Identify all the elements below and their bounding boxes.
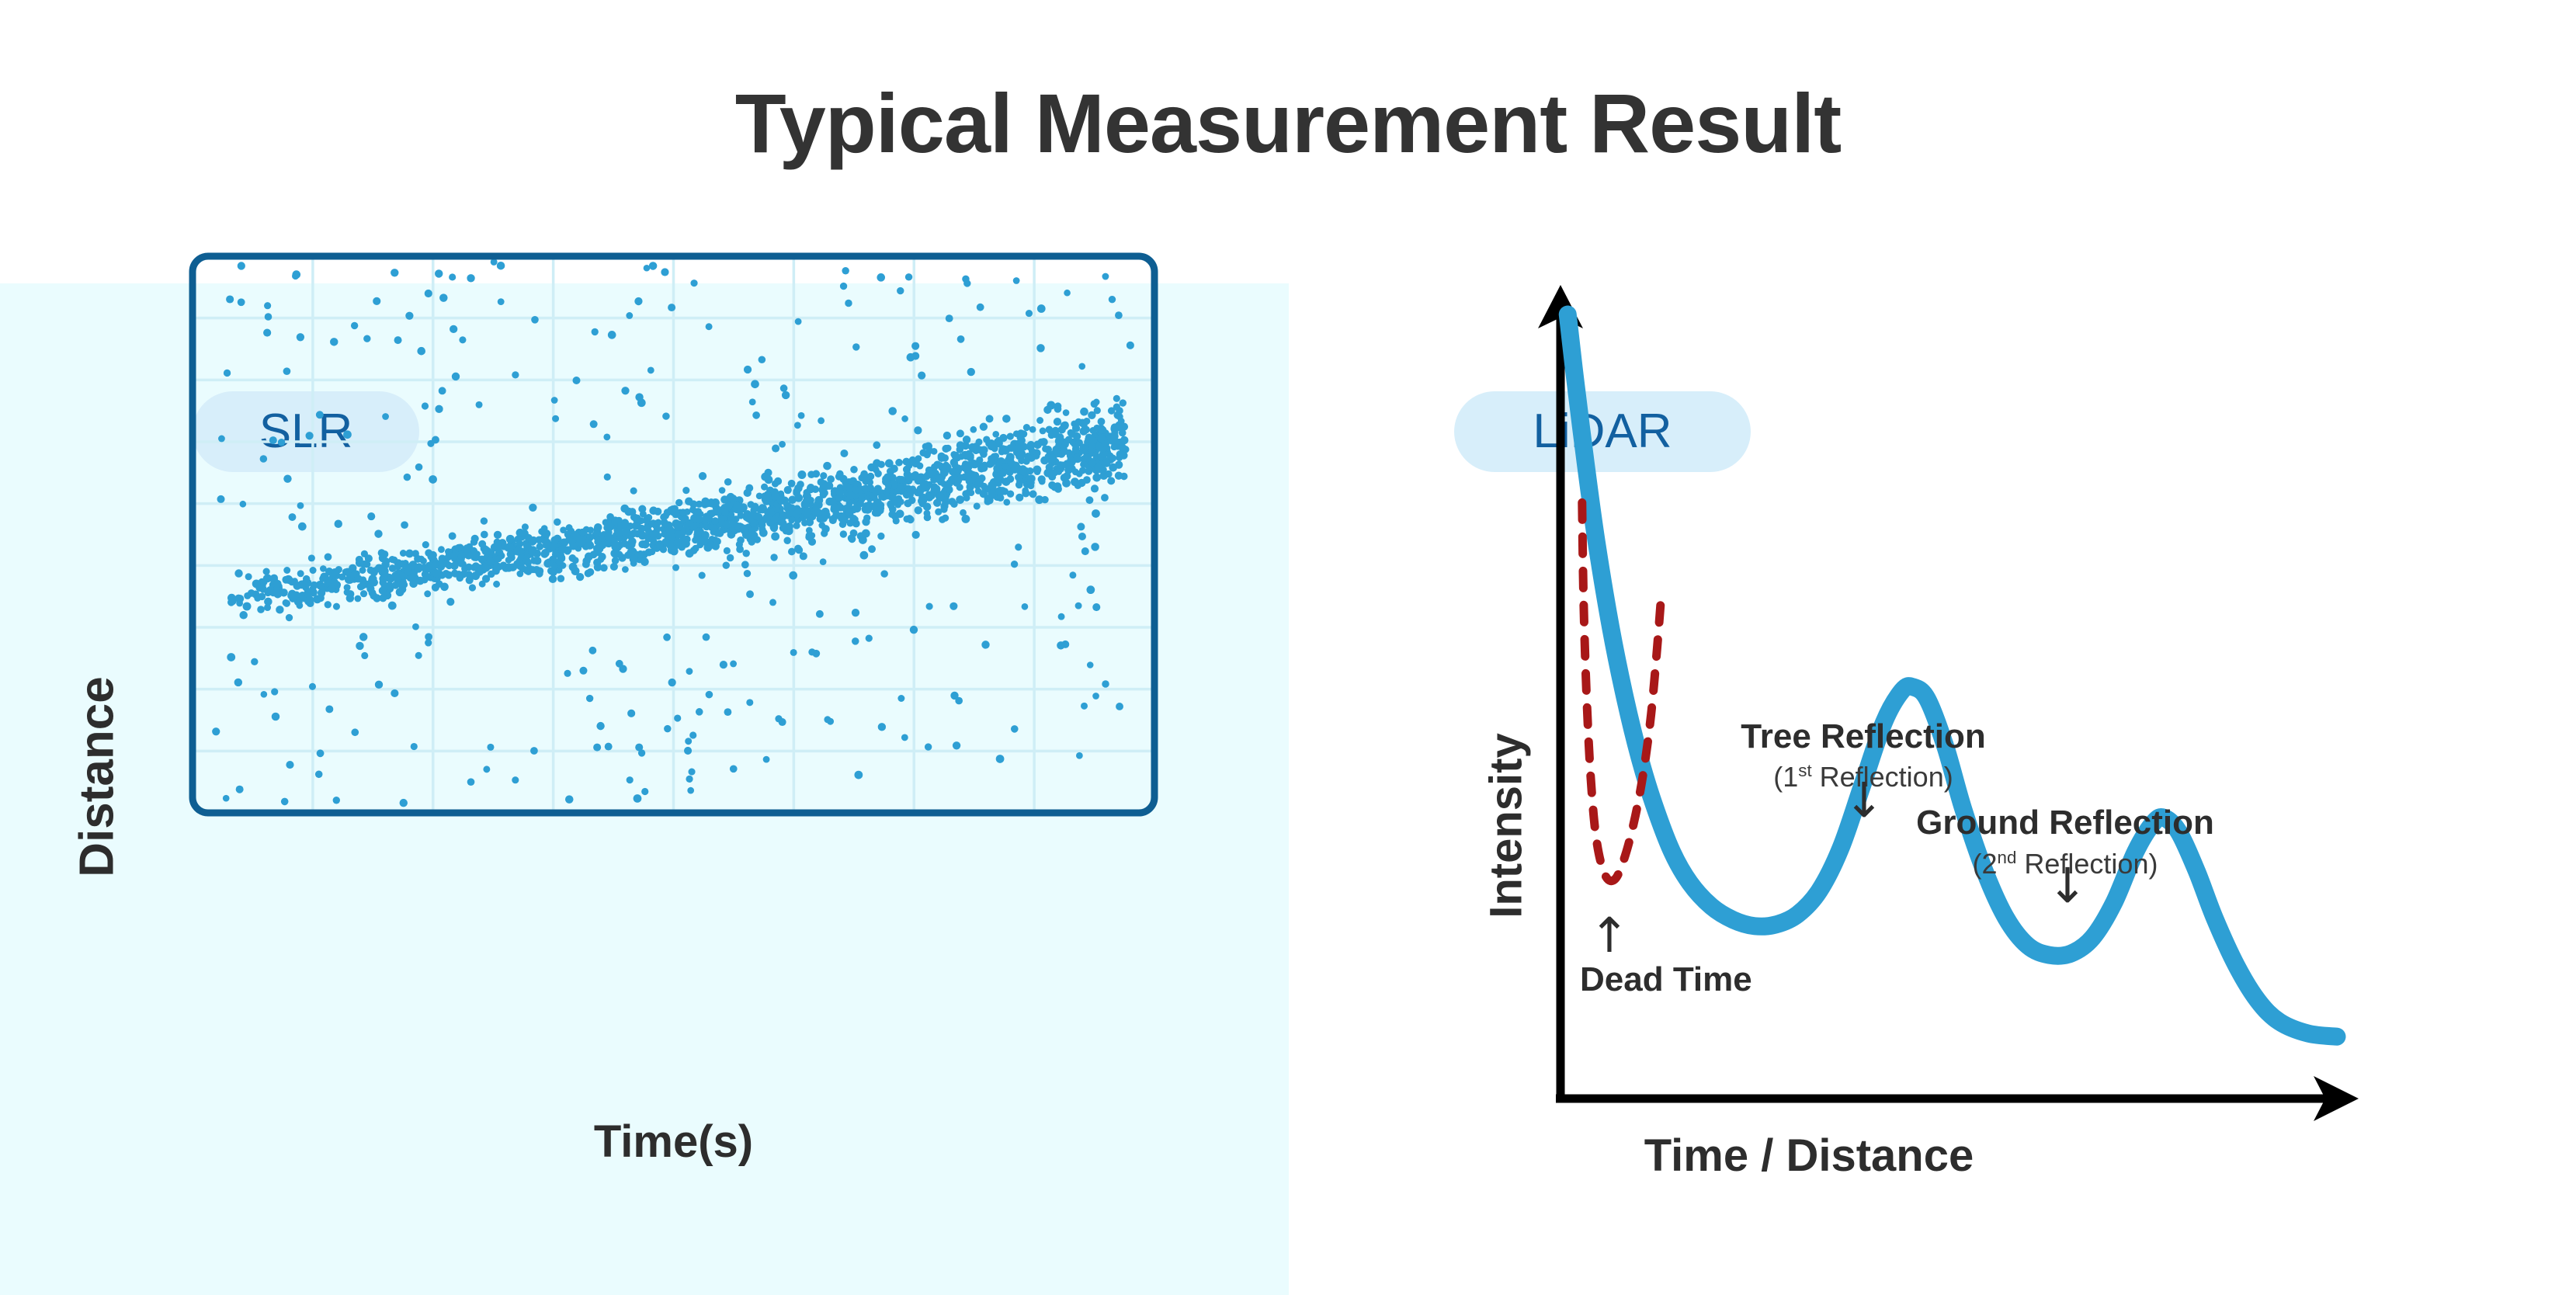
ground-sub-prefix: (2 [1973,848,1998,880]
lidar-x-axis-label: Time / Distance [1615,1130,2003,1182]
lidar-return-waveform [1567,314,2337,1036]
annotation-dead-time-label: Dead Time [1580,960,1752,999]
badge-slr[interactable]: SLR [193,391,419,472]
tree-sub-ordinal: st [1798,761,1811,780]
slr-x-axis-label: Time(s) [190,1116,1157,1168]
ground-sub-ordinal: nd [1998,848,2017,867]
annotation-ground-reflection-title: Ground Reflection [1902,804,2228,842]
annotation-ground-down-arrow-icon: ↓ [2047,862,2088,910]
annotation-dead-time-up-arrow-icon: ↑ [1589,911,1630,960]
annotation-tree-down-arrow-icon: ↓ [1844,776,1884,825]
page-title: Typical Measurement Result [0,78,2576,170]
slr-y-axis-label: Distance [70,661,125,894]
annotation-tree-reflection-title: Tree Reflection [1716,717,2011,756]
lidar-y-axis-label: Intensity [1481,698,1533,954]
tree-sub-prefix: (1 [1773,761,1798,793]
header-bar: Typical Measurement Result [0,0,2576,283]
